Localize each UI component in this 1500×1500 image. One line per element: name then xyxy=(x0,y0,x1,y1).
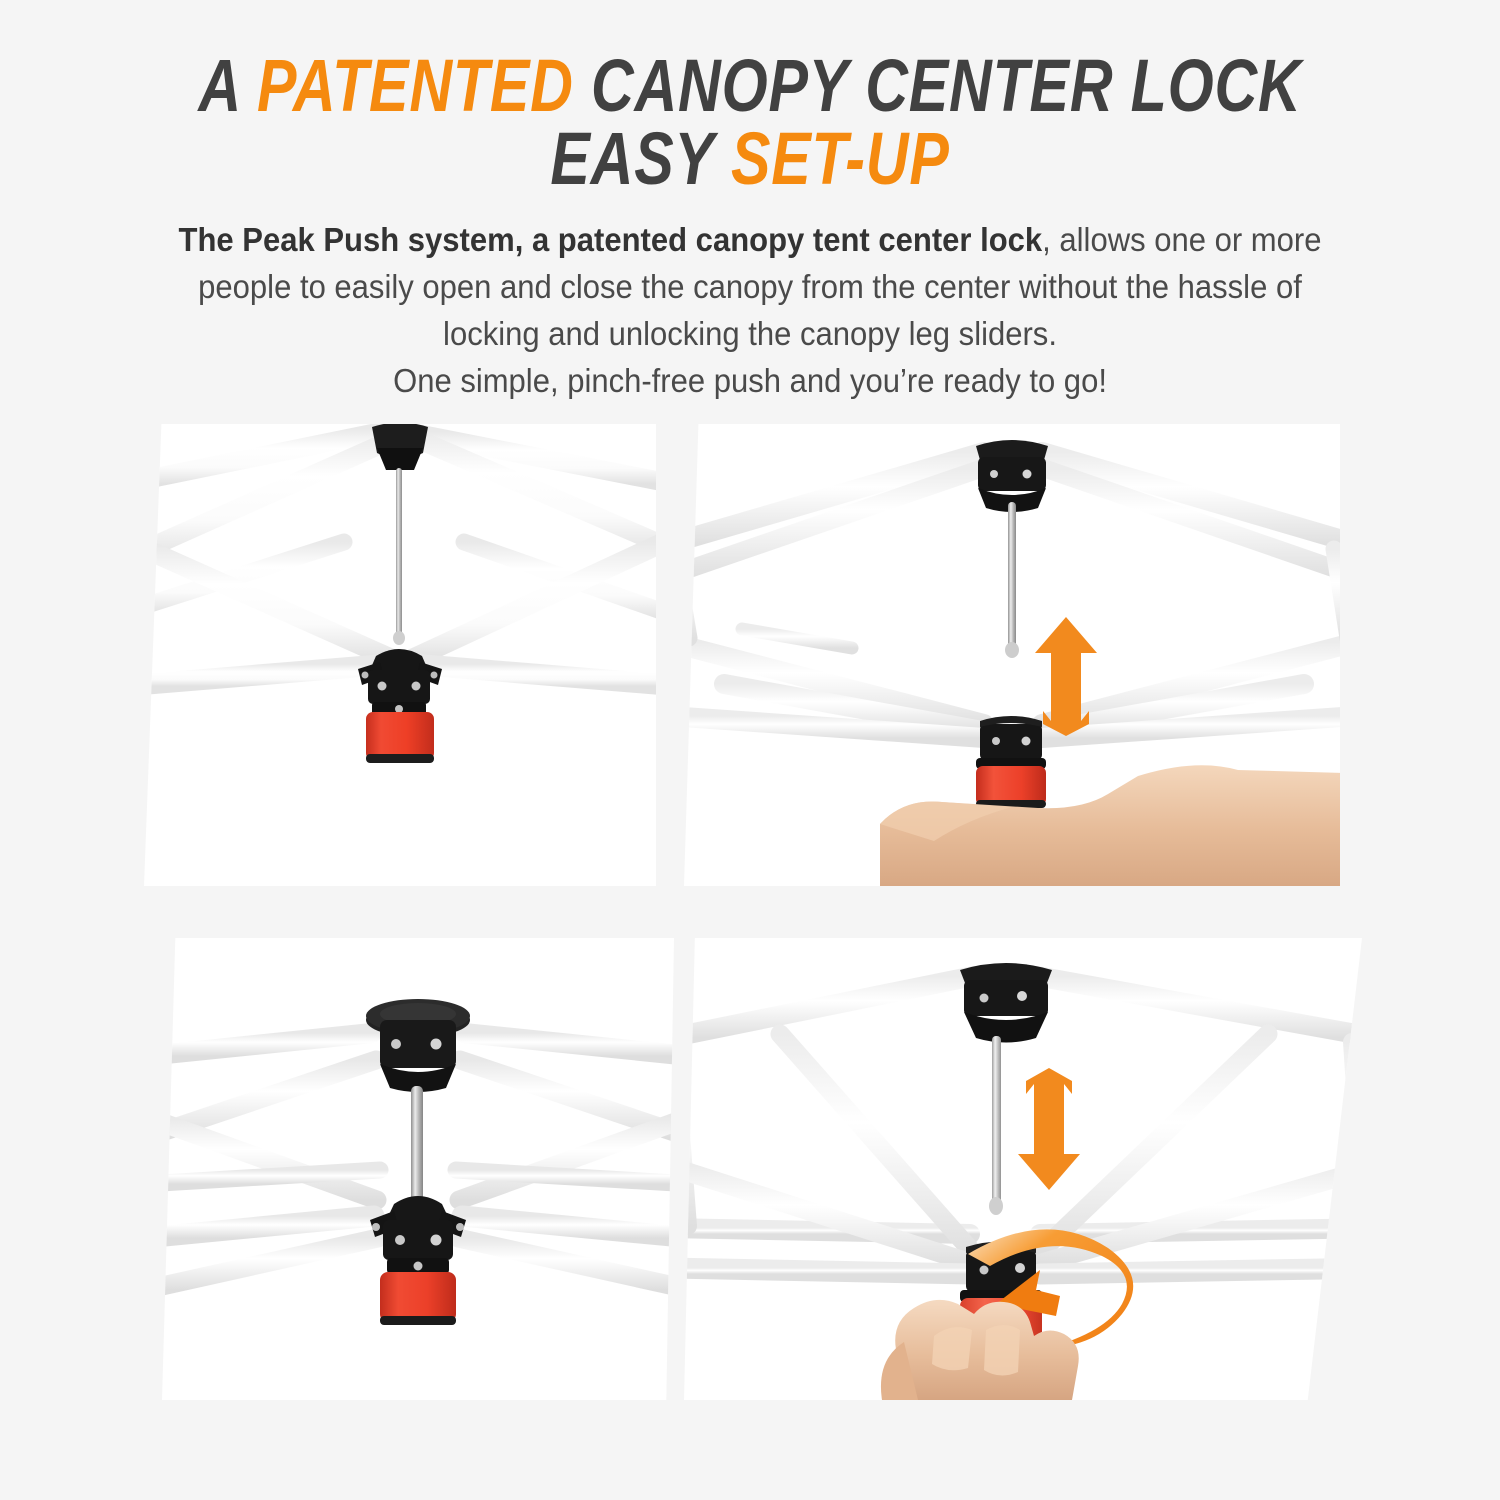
headline-block: A PATENTED CANOPY CENTER LOCK EASY SET-U… xyxy=(0,0,1500,195)
push-rod xyxy=(992,1036,1001,1204)
center-lock-hub xyxy=(370,1196,466,1325)
description-line-1: The Peak Push system, a patented canopy … xyxy=(125,217,1375,264)
description-line-3: locking and unlocking the canopy leg sli… xyxy=(125,311,1375,358)
description-line-1-rest: , allows one or more xyxy=(1042,221,1321,258)
hand-pushing-up-illustration xyxy=(684,424,1340,886)
peak-fitting-engaged xyxy=(366,999,470,1092)
peak-fitting xyxy=(960,963,1052,1043)
description-line-2: people to easily open and close the cano… xyxy=(125,264,1375,311)
arrow-down-icon xyxy=(1018,1068,1080,1190)
headline-text-easy: EASY xyxy=(550,117,731,200)
red-lock-barrel xyxy=(366,712,434,760)
panel-top-right xyxy=(684,424,1340,886)
description-block: The Peak Push system, a patented canopy … xyxy=(125,217,1375,404)
headline-highlight-patented: PATENTED xyxy=(257,44,574,127)
center-lock-engaged-illustration xyxy=(162,938,674,1400)
center-lock-hub xyxy=(976,716,1046,808)
product-photo-grid xyxy=(0,424,1500,1400)
hands-twisting-lock-illustration xyxy=(684,938,1362,1400)
peak-fitting xyxy=(372,424,428,470)
arrow-up-icon xyxy=(1035,617,1097,736)
headline-line-1: A PATENTED CANOPY CENTER LOCK xyxy=(150,50,1350,123)
headline-text-a: A xyxy=(198,44,257,127)
headline-text-canopy-center-lock: CANOPY CENTER LOCK xyxy=(574,44,1302,127)
headline-line-2: EASY SET-UP xyxy=(150,123,1350,196)
panel-bottom-right xyxy=(684,938,1362,1400)
description-lead-bold: The Peak Push system, a patented canopy … xyxy=(178,221,1042,258)
peak-fitting xyxy=(976,440,1048,512)
headline-highlight-setup: SET-UP xyxy=(731,117,950,200)
center-lock-hub xyxy=(358,649,442,763)
push-rod xyxy=(411,1086,423,1206)
push-rod xyxy=(396,468,402,636)
description-line-4: One simple, pinch-free push and you’re r… xyxy=(125,358,1375,405)
panel-bottom-left xyxy=(162,938,674,1400)
canopy-frame-extended-illustration xyxy=(144,424,656,886)
hands-illustration xyxy=(881,1300,1079,1400)
push-rod xyxy=(1008,502,1016,648)
red-lock-barrel xyxy=(380,1272,456,1322)
hand-illustration xyxy=(880,765,1340,886)
panel-top-left xyxy=(144,424,656,886)
